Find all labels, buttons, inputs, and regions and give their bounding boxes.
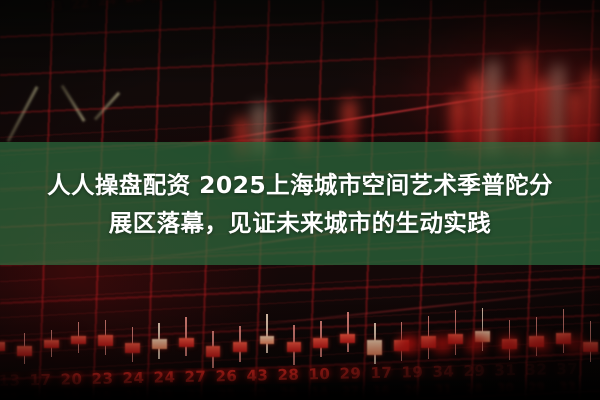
ticker-value: 25	[211, 387, 242, 400]
candle-body	[340, 334, 355, 343]
candle-body	[125, 343, 140, 353]
number-blob	[532, 336, 551, 353]
ticker-value: 20	[397, 383, 428, 398]
candle-body	[17, 346, 32, 356]
ticker-value: 11	[25, 391, 56, 400]
ticker-value: 23	[87, 369, 118, 388]
blurred-candle	[520, 52, 532, 156]
ticker-value: 31	[428, 382, 459, 397]
number-blob	[433, 336, 452, 353]
candle-body	[287, 342, 302, 352]
ticker-value: 17	[366, 364, 397, 383]
candle-wick	[347, 312, 348, 352]
candle-body	[206, 346, 221, 358]
ticker-value: 29	[521, 380, 552, 395]
headline-line-1: 人人操盘配资 2025上海城市空间艺术季普陀分	[47, 166, 553, 204]
candle-wick	[185, 317, 186, 356]
ticker-value: 37	[552, 360, 583, 379]
blurred-number-blobs	[400, 336, 598, 353]
ticker-value: 27	[180, 367, 211, 386]
ticker-value: 31	[490, 361, 521, 380]
ticker-value: 24	[118, 369, 149, 388]
candle-body	[98, 335, 113, 346]
ticker-value: 24	[149, 368, 180, 387]
ticker-value: 17	[25, 371, 56, 390]
ticker-value: 08	[0, 391, 25, 400]
banner-image: 18222426282821302726 0811151821192225302…	[0, 0, 600, 400]
ticker-value: 14	[304, 385, 335, 400]
ticker-value: 13	[0, 371, 25, 390]
ticker-value: 18	[87, 389, 118, 400]
ticker-value: 43	[242, 366, 273, 385]
candle-body	[152, 339, 167, 349]
ticker-value: 28	[459, 382, 490, 397]
ticker-value: 29	[459, 362, 490, 381]
ticker-value: 28	[273, 366, 304, 385]
candle-body	[313, 338, 328, 348]
candle-body	[44, 340, 59, 348]
ticker-value: 26	[211, 367, 242, 386]
headline-band: 人人操盘配资 2025上海城市空间艺术季普陀分 展区落幕，见证未来城市的生动实践	[0, 142, 600, 265]
number-blob	[499, 336, 518, 353]
ticker-value: 30	[490, 381, 521, 396]
number-blob	[565, 336, 584, 353]
candle-body	[233, 342, 248, 352]
ticker-value: 15	[56, 390, 87, 400]
ticker-value: 34	[428, 362, 459, 381]
ticker-value: 10	[304, 365, 335, 384]
candle-body	[71, 336, 86, 344]
number-blob	[466, 336, 485, 353]
blurred-candle	[536, 78, 549, 152]
number-blob	[400, 336, 419, 353]
headline-line-2: 展区落幕，见证未来城市的生动实践	[109, 204, 491, 242]
candle-body	[0, 342, 5, 351]
ticker-value: 19	[149, 388, 180, 400]
candle-wick	[266, 314, 267, 353]
ticker-value: 22	[180, 387, 211, 400]
ticker-value: 30	[242, 386, 273, 400]
ticker-value: 33	[552, 380, 583, 395]
ticker-value: 20	[56, 370, 87, 389]
candle-body	[367, 340, 382, 354]
ticker-value: 16	[366, 384, 397, 399]
ticker-value: 29	[335, 364, 366, 383]
ticker-value: 19	[397, 363, 428, 382]
ticker-value: 21	[118, 389, 149, 400]
ticker-value: 32	[521, 360, 552, 379]
ticker-value: 26	[273, 386, 304, 400]
ticker-value: 27	[335, 384, 366, 399]
candle-body	[179, 338, 194, 347]
candle-body	[260, 336, 275, 344]
